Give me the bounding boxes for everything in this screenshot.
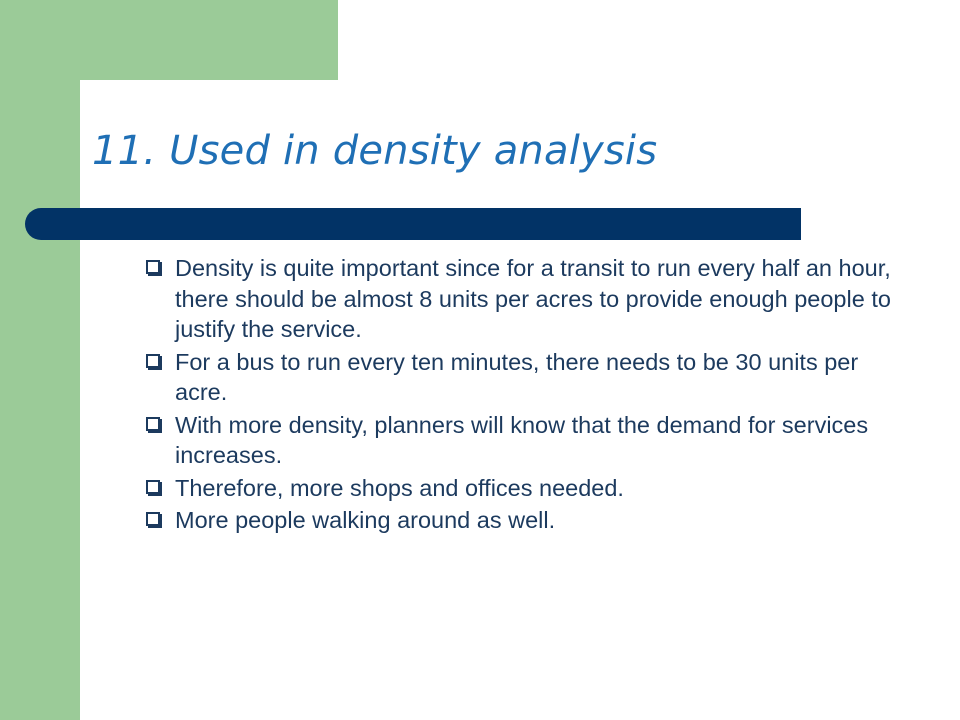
hollow-square-icon — [146, 253, 166, 284]
list-item-text: More people walking around as well. — [175, 505, 900, 536]
hollow-square-icon — [146, 505, 166, 536]
list-item-text: With more density, planners will know th… — [175, 410, 900, 471]
hollow-square-icon — [146, 473, 166, 504]
title-accent-bar — [25, 208, 801, 240]
list-item: For a bus to run every ten minutes, ther… — [140, 347, 900, 408]
hollow-square-icon — [146, 347, 166, 378]
list-item: Density is quite important since for a t… — [140, 253, 900, 345]
list-item-text: For a bus to run every ten minutes, ther… — [175, 347, 900, 408]
hollow-square-icon — [146, 410, 166, 441]
slide-title: 11. Used in density analysis — [92, 125, 892, 177]
list-item: Therefore, more shops and offices needed… — [140, 473, 900, 504]
green-left-strip — [0, 0, 80, 720]
list-item-text: Therefore, more shops and offices needed… — [175, 473, 900, 504]
list-item: More people walking around as well. — [140, 505, 900, 536]
list-item: With more density, planners will know th… — [140, 410, 900, 471]
list-item-text: Density is quite important since for a t… — [175, 253, 900, 345]
slide-canvas: 11. Used in density analysis Density is … — [0, 0, 960, 720]
bullet-list: Density is quite important since for a t… — [140, 253, 900, 538]
